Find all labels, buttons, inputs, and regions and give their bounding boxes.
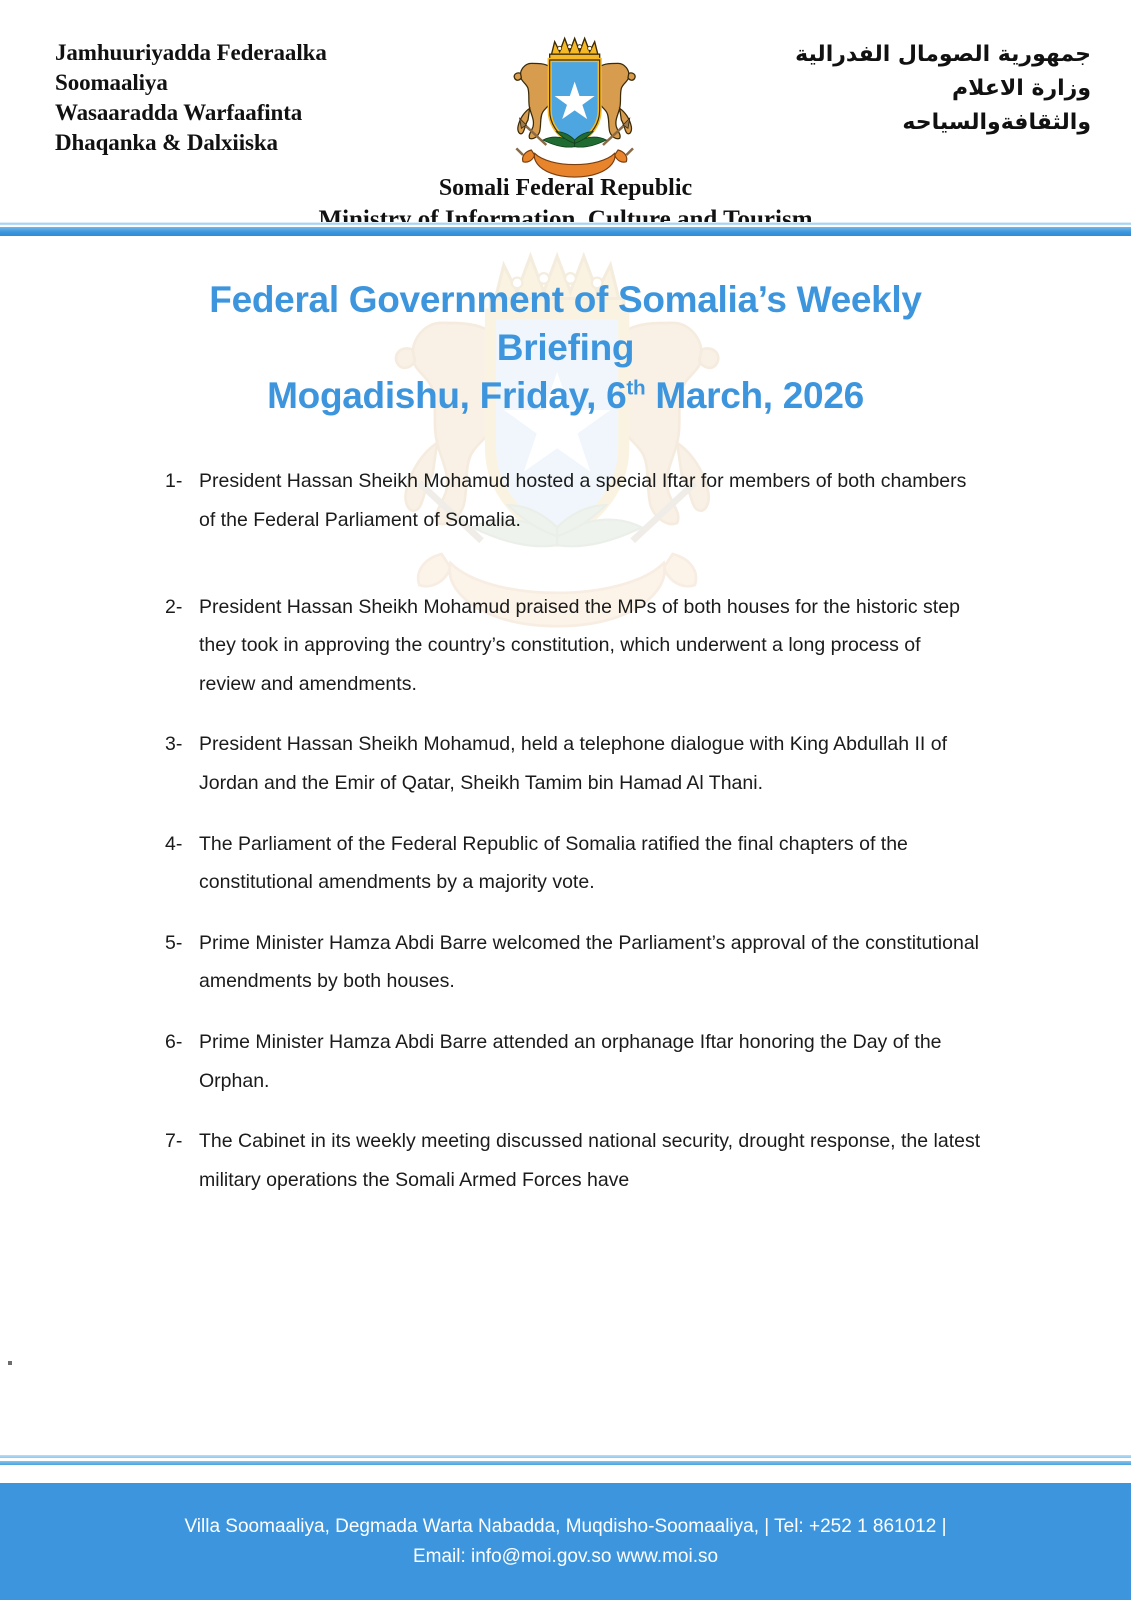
list-item-text: President Hassan Sheikh Mohamud praised … bbox=[199, 588, 981, 704]
list-item: 1- President Hassan Sheikh Mohamud hoste… bbox=[165, 462, 981, 539]
page-title-date-ordinal: th bbox=[626, 377, 645, 400]
list-item-number: 7- bbox=[165, 1122, 199, 1161]
page-title-line-1: Federal Government of Somalia’s Weekly bbox=[209, 279, 921, 320]
header-arabic-line-3: والثقافةوالسياحه bbox=[701, 106, 1091, 140]
list-item-text: Prime Minister Hamza Abdi Barre welcomed… bbox=[199, 924, 981, 1001]
footer-separator-band bbox=[0, 1455, 1131, 1469]
list-item: 3- President Hassan Sheikh Mohamud, held… bbox=[165, 725, 981, 802]
footer-separator-thick-line bbox=[0, 1461, 1131, 1465]
list-item-text: President Hassan Sheikh Mohamud hosted a… bbox=[199, 462, 981, 539]
list-item-number: 1- bbox=[165, 462, 199, 501]
list-item: 4- The Parliament of the Federal Republi… bbox=[165, 825, 981, 902]
list-item-text: President Hassan Sheikh Mohamud, held a … bbox=[199, 725, 981, 802]
briefing-items-list: 1- President Hassan Sheikh Mohamud hoste… bbox=[0, 462, 1131, 1199]
document-header: Jamhuuriyadda Federaalka Soomaaliya Wasa… bbox=[0, 0, 1131, 218]
list-item-number: 5- bbox=[165, 924, 199, 963]
list-item-text: Prime Minister Hamza Abdi Barre attended… bbox=[199, 1023, 981, 1100]
page-title-date-city: Mogadishu, Friday, 6 bbox=[267, 375, 626, 416]
header-arabic-title: جمهورية الصومال الفدرالية وزارة الاعلام … bbox=[701, 30, 1101, 140]
list-item: 5- Prime Minister Hamza Abdi Barre welco… bbox=[165, 924, 981, 1001]
header-arabic-line-2: وزارة الاعلام bbox=[701, 72, 1091, 106]
list-item: 2- President Hassan Sheikh Mohamud prais… bbox=[165, 588, 981, 704]
document-footer: Villa Soomaaliya, Degmada Warta Nabadda,… bbox=[0, 1483, 1131, 1600]
header-arabic-line-1: جمهورية الصومال الفدرالية bbox=[701, 38, 1091, 72]
header-somali-title: Jamhuuriyadda Federaalka Soomaaliya Wasa… bbox=[55, 30, 455, 158]
list-item: 6- Prime Minister Hamza Abdi Barre atten… bbox=[165, 1023, 981, 1100]
page-title: Federal Government of Somalia’s Weekly B… bbox=[0, 276, 1131, 420]
header-somali-line-1: Jamhuuriyadda Federaalka bbox=[55, 38, 455, 68]
list-item-number: 2- bbox=[165, 588, 199, 627]
header-row: Jamhuuriyadda Federaalka Soomaaliya Wasa… bbox=[0, 30, 1131, 180]
list-item-text: The Parliament of the Federal Republic o… bbox=[199, 825, 981, 902]
coat-of-arms-emblem bbox=[478, 30, 678, 180]
page-title-date-rest: March, 2026 bbox=[645, 375, 864, 416]
footer-address-line: Villa Soomaaliya, Degmada Warta Nabadda,… bbox=[184, 1512, 946, 1541]
document-body: Federal Government of Somalia’s Weekly B… bbox=[0, 218, 1131, 1383]
list-item-text: The Cabinet in its weekly meeting discus… bbox=[199, 1122, 981, 1199]
header-somali-line-3: Wasaaradda Warfaafinta bbox=[55, 98, 455, 128]
list-item: 7- The Cabinet in its weekly meeting dis… bbox=[165, 1122, 981, 1199]
footer-contact-line: Email: info@moi.gov.so www.moi.so bbox=[413, 1542, 718, 1571]
somali-coat-of-arms-icon bbox=[494, 30, 662, 180]
list-item-number: 6- bbox=[165, 1023, 199, 1062]
header-somali-line-2: Soomaaliya bbox=[55, 68, 455, 98]
document-page: Jamhuuriyadda Federaalka Soomaaliya Wasa… bbox=[0, 0, 1131, 1600]
stray-mark bbox=[8, 1361, 12, 1365]
list-item-number: 3- bbox=[165, 725, 199, 764]
page-title-line-2: Briefing bbox=[497, 327, 634, 368]
header-somali-line-4: Dhaqanka & Dalxiiska bbox=[55, 128, 455, 158]
list-item-number: 4- bbox=[165, 825, 199, 864]
